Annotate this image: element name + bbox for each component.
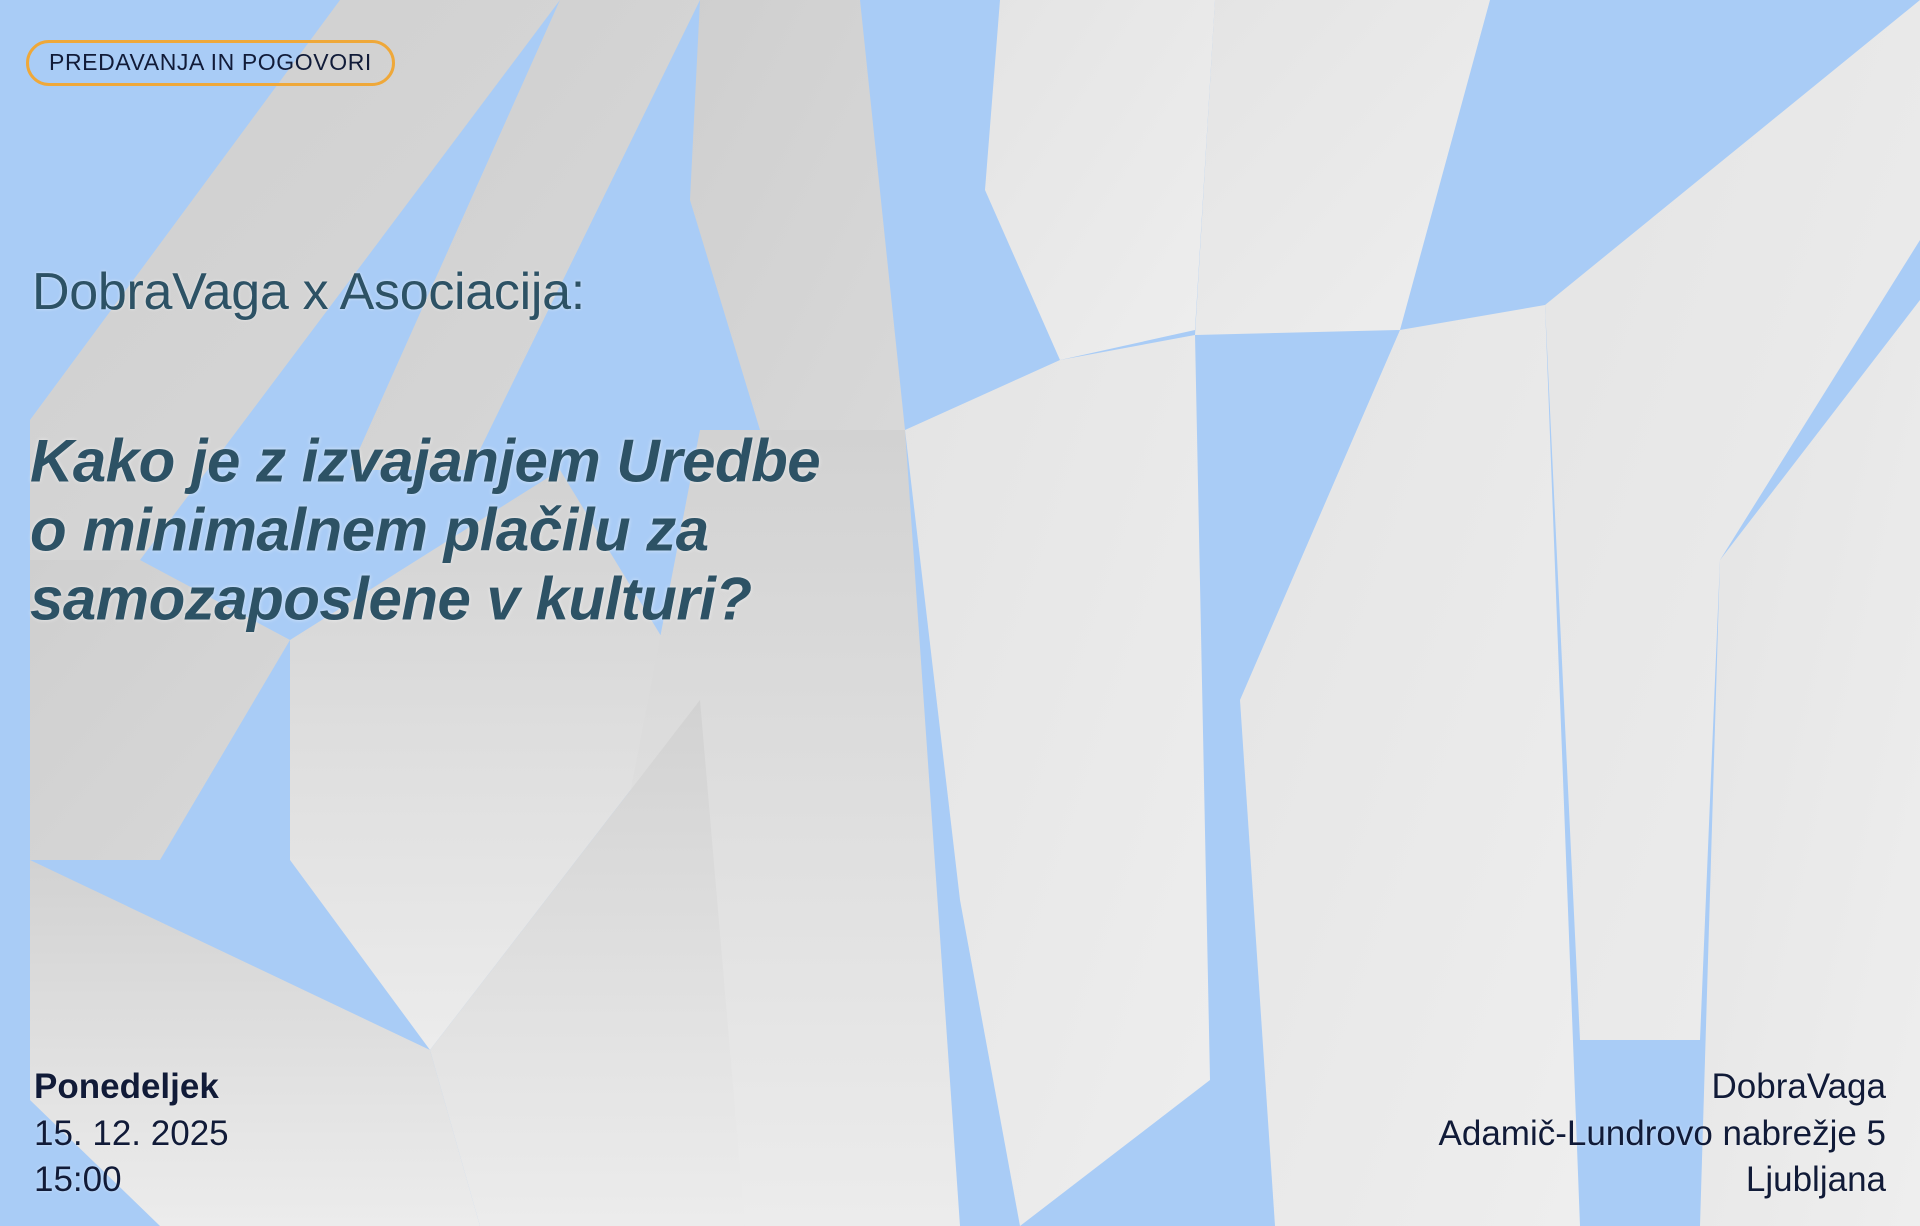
event-eyebrow: DobraVaga x Asociacija: bbox=[32, 262, 585, 322]
event-headline: Kako je z izvajanjem Uredbe o minimalnem… bbox=[30, 427, 820, 634]
headline-line-2: o minimalnem plačilu za bbox=[30, 496, 820, 565]
event-datetime-block: Ponedeljek 15. 12. 2025 15:00 bbox=[34, 1064, 229, 1204]
event-date: 15. 12. 2025 bbox=[34, 1111, 229, 1158]
venue-street: Adamič-Lundrovo nabrežje 5 bbox=[1439, 1111, 1886, 1158]
headline-line-1: Kako je z izvajanjem Uredbe bbox=[30, 427, 820, 496]
venue-name: DobraVaga bbox=[1439, 1064, 1886, 1111]
venue-city: Ljubljana bbox=[1439, 1157, 1886, 1204]
category-badge[interactable]: PREDAVANJA IN POGOVORI bbox=[26, 40, 395, 86]
event-time: 15:00 bbox=[34, 1157, 229, 1204]
headline-line-3: samozaposlene v kulturi? bbox=[30, 565, 820, 634]
event-day: Ponedeljek bbox=[34, 1064, 229, 1111]
category-badge-label: PREDAVANJA IN POGOVORI bbox=[49, 49, 372, 75]
event-venue-block: DobraVaga Adamič-Lundrovo nabrežje 5 Lju… bbox=[1439, 1064, 1886, 1204]
